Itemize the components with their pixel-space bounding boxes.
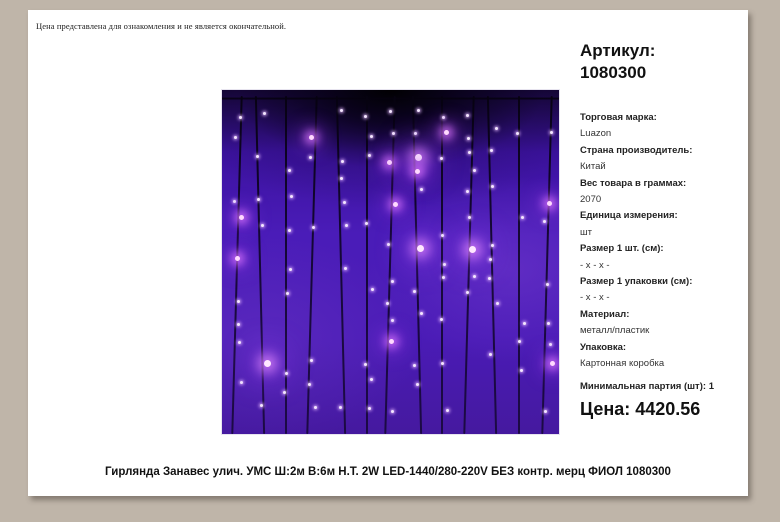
led-lamp <box>489 258 492 261</box>
light-strand <box>518 96 520 434</box>
led-lamp <box>473 275 476 278</box>
led-lamp <box>466 291 469 294</box>
led-lamp <box>550 131 553 134</box>
led-lamp <box>263 112 266 115</box>
led-lamp <box>441 362 444 365</box>
led-lamp <box>491 244 494 247</box>
led-lamp <box>467 137 470 140</box>
led-lamp <box>387 243 390 246</box>
led-lamp <box>288 229 291 232</box>
product-title: Гирлянда Занавес улич. УМС Ш:2м В:6м Н.Т… <box>28 466 748 478</box>
led-lamp <box>547 322 550 325</box>
led-curtain-photo <box>222 90 559 434</box>
led-lamp <box>490 149 493 152</box>
spec-value: шт <box>580 225 748 241</box>
led-lamp <box>521 216 524 219</box>
led-lamp <box>234 136 237 139</box>
led-lamp <box>289 268 292 271</box>
led-lamp <box>368 407 371 410</box>
led-lamp <box>489 353 492 356</box>
led-lamp <box>543 220 546 223</box>
led-lamp <box>389 339 394 344</box>
led-lamp <box>415 169 420 174</box>
document-page: Цена представлена для ознакомления и не … <box>28 10 748 496</box>
led-lamp <box>339 406 342 409</box>
led-lamp <box>341 160 344 163</box>
spec-value: - x - x - <box>580 258 748 274</box>
led-lamp <box>544 410 547 413</box>
led-lamp <box>239 215 244 220</box>
led-lamp <box>495 127 498 130</box>
led-lamp <box>420 188 423 191</box>
led-lamp <box>420 312 423 315</box>
spec-list: Торговая марка:LuazonСтрана производител… <box>580 110 748 373</box>
led-lamp <box>391 319 394 322</box>
led-lamp <box>442 276 445 279</box>
led-lamp <box>417 109 420 112</box>
light-strand <box>336 96 346 434</box>
led-lamp <box>523 322 526 325</box>
spec-label: Вес товара в граммах: <box>580 176 748 192</box>
led-lamp <box>547 201 552 206</box>
light-strand <box>384 96 395 434</box>
spec-label: Единица измерения: <box>580 208 748 224</box>
led-lamp <box>257 198 260 201</box>
spec-label: Материал: <box>580 307 748 323</box>
led-lamp <box>370 135 373 138</box>
led-lamp <box>340 109 343 112</box>
led-lamp <box>370 378 373 381</box>
light-strand <box>285 96 287 434</box>
led-lamp <box>520 369 523 372</box>
led-lamp <box>389 110 392 113</box>
led-lamp <box>444 130 449 135</box>
led-lamp <box>288 169 291 172</box>
led-lamp <box>391 280 394 283</box>
led-lamp <box>240 381 243 384</box>
spec-label: Торговая марка: <box>580 110 748 126</box>
led-lamp <box>364 363 367 366</box>
product-image <box>221 89 560 435</box>
led-lamp <box>344 267 347 270</box>
led-lamp <box>466 190 469 193</box>
light-strand <box>541 96 552 434</box>
light-strand <box>255 96 265 434</box>
led-lamp <box>491 185 494 188</box>
spec-value: Luazon <box>580 126 748 142</box>
led-lamp <box>415 154 422 161</box>
led-lamp <box>314 406 317 409</box>
led-lamp <box>340 177 343 180</box>
led-lamp <box>256 155 259 158</box>
spec-value: - x - x - <box>580 290 748 306</box>
led-lamp <box>518 340 521 343</box>
led-lamp <box>264 360 271 367</box>
led-lamp <box>371 288 374 291</box>
light-strand <box>487 96 497 434</box>
minimum-batch-value: 1 <box>709 381 714 392</box>
led-lamp <box>285 372 288 375</box>
led-lamp <box>235 256 240 261</box>
led-lamp <box>441 234 444 237</box>
led-lamp <box>442 116 445 119</box>
led-lamp <box>309 135 314 140</box>
led-lamp <box>309 156 312 159</box>
led-lamp <box>473 169 476 172</box>
led-lamp <box>343 201 346 204</box>
spec-label: Упаковка: <box>580 340 748 356</box>
spec-label: Размер 1 шт. (см): <box>580 241 748 257</box>
led-lamp <box>440 318 443 321</box>
led-lamp <box>413 364 416 367</box>
spec-value: металл/пластик <box>580 323 748 339</box>
article-label: Артикул: <box>580 41 655 60</box>
minimum-batch: Минимальная партия (шт): 1 <box>580 381 714 392</box>
minimum-batch-label: Минимальная партия (шт): <box>580 381 706 392</box>
bus-wire <box>222 97 559 100</box>
led-lamp <box>393 202 398 207</box>
led-lamp <box>233 200 236 203</box>
spec-value: 2070 <box>580 192 748 208</box>
led-lamp <box>546 283 549 286</box>
price-disclaimer: Цена представлена для ознакомления и не … <box>36 21 286 31</box>
led-lamp <box>237 300 240 303</box>
led-lamp <box>308 383 311 386</box>
spec-label: Страна производитель: <box>580 143 748 159</box>
light-strand <box>463 96 474 434</box>
led-lamp <box>417 245 424 252</box>
led-lamp <box>237 323 240 326</box>
led-lamp <box>469 246 476 253</box>
led-lamp <box>286 292 289 295</box>
article-number: 1080300 <box>580 62 655 84</box>
led-lamp <box>446 409 449 412</box>
led-lamp <box>261 224 264 227</box>
led-lamp <box>468 151 471 154</box>
spec-value: Картонная коробка <box>580 356 748 372</box>
spec-label: Размер 1 упаковки (см): <box>580 274 748 290</box>
led-lamp <box>496 302 499 305</box>
led-lamp <box>443 263 446 266</box>
led-lamp <box>391 410 394 413</box>
led-lamp <box>312 226 315 229</box>
led-lamp <box>238 341 241 344</box>
led-lamp <box>549 343 552 346</box>
spec-value: Китай <box>580 159 748 175</box>
led-lamp <box>414 132 417 135</box>
led-lamp <box>368 154 371 157</box>
led-lamp <box>550 361 555 366</box>
article-number-block: Артикул: 1080300 <box>580 40 655 84</box>
led-lamp <box>290 195 293 198</box>
led-lamp <box>466 114 469 117</box>
led-lamp <box>345 224 348 227</box>
price-block: Цена: 4420.56 <box>580 399 700 420</box>
led-lamp <box>310 359 313 362</box>
led-lamp <box>283 391 286 394</box>
light-strand <box>366 96 368 434</box>
